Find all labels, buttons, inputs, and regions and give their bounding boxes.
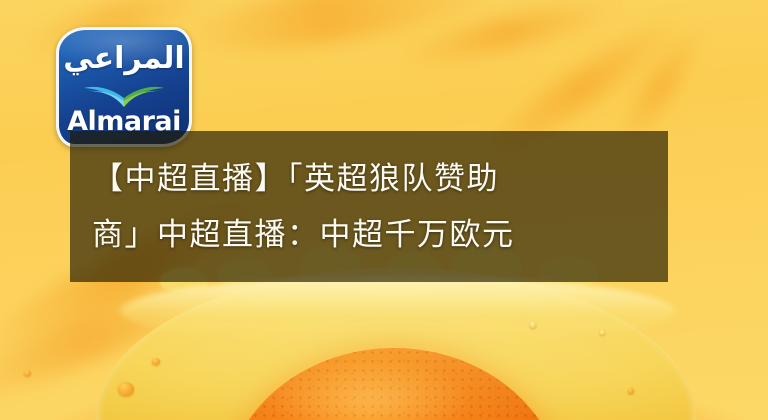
caption-line-1: 【中超直播】「英超狼队赞助 (92, 151, 646, 207)
almarai-swoosh-icon (81, 82, 167, 108)
droplet (600, 330, 605, 335)
screenshot-stage: المراعي Almarai 【中超直播】「英超狼队赞助 商」中超直播：中超千… (0, 0, 768, 420)
caption-line-2: 商」中超直播：中超千万欧元 (92, 207, 646, 263)
droplet (118, 382, 134, 396)
droplet (628, 388, 634, 394)
almarai-logo: المراعي Almarai (56, 27, 192, 147)
droplet (152, 358, 160, 365)
droplet (24, 370, 31, 376)
caption-banner: 【中超直播】「英超狼队赞助 商」中超直播：中超千万欧元 (70, 131, 668, 282)
logo-arabic-text: المراعي (59, 44, 189, 74)
droplet (530, 322, 536, 328)
